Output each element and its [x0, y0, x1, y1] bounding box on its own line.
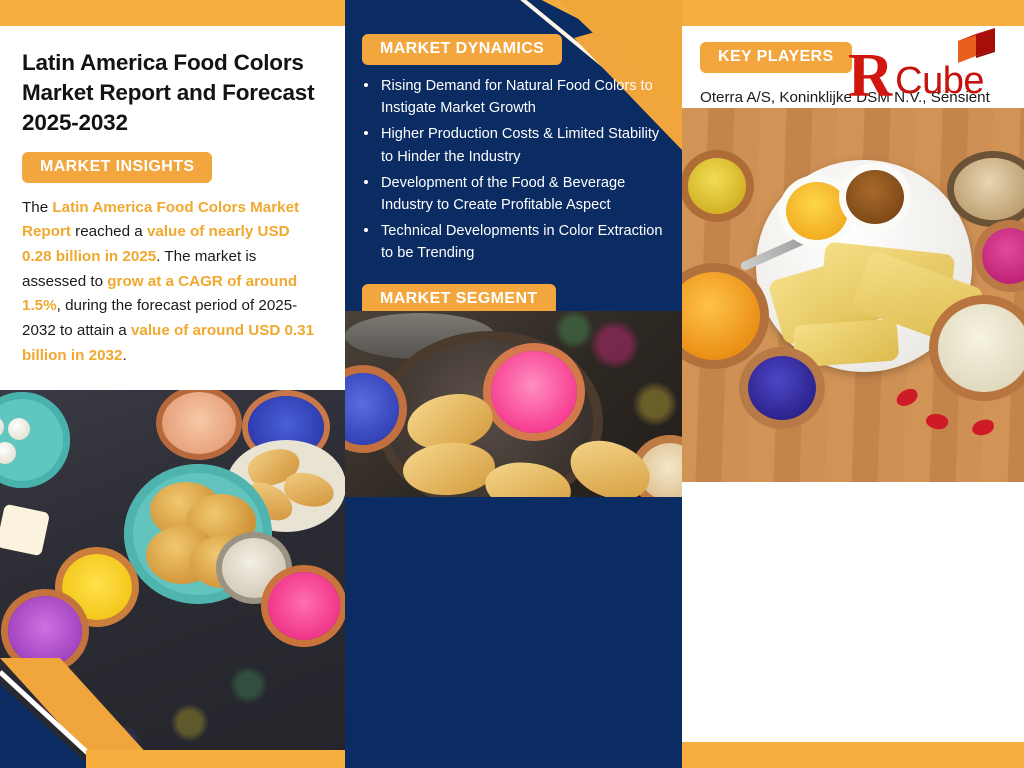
left-panel: Latin America Food Colors Market Report … — [0, 26, 345, 768]
reversed-r-icon: Я — [848, 50, 893, 102]
indigo-powder-bowl — [748, 356, 816, 420]
insights-run-2: reached a — [71, 223, 147, 240]
market-dynamics-list: Rising Demand for Natural Food Colors to… — [379, 75, 664, 264]
list-item: Higher Production Costs & Limited Stabil… — [379, 123, 664, 167]
purple-powder-bowl — [8, 596, 82, 666]
top-accent-strip-left — [0, 0, 345, 26]
peach-powder-bowl — [162, 392, 236, 454]
bottom-accent-strip-right — [682, 742, 1024, 768]
dry-fruits-bowl — [954, 158, 1024, 220]
right-panel: Я Cube — [682, 26, 1024, 742]
list-item: Development of the Food & Beverage Indus… — [379, 172, 664, 216]
middle-food-photo — [345, 311, 682, 497]
right-food-photo — [682, 108, 1024, 482]
pink-powder-bowl — [491, 351, 577, 433]
insights-run-0: The — [22, 199, 52, 216]
paratha-roll — [793, 318, 900, 367]
butter-cube — [0, 504, 50, 557]
left-food-photo — [0, 390, 345, 768]
ghee-bowl — [688, 158, 746, 214]
left-panel-content: Latin America Food Colors Market Report … — [0, 26, 345, 368]
brand-logo[interactable]: Я Cube — [848, 40, 1000, 102]
infographic-page: Latin America Food Colors Market Report … — [0, 0, 1024, 768]
market-insights-text: The Latin America Food Colors Market Rep… — [22, 196, 323, 368]
key-players-badge: KEY PLAYERS — [700, 42, 852, 73]
pink-powder-bowl — [268, 572, 340, 640]
top-accent-strip-right — [682, 0, 1024, 26]
market-insights-badge: MARKET INSIGHTS — [22, 152, 212, 183]
insights-run-8: . — [122, 347, 126, 364]
list-item: Technical Developments in Color Extracti… — [379, 220, 664, 264]
kheer-bowl — [938, 304, 1024, 392]
yellow-sauce-bowl — [786, 182, 848, 240]
brown-curry-bowl — [846, 170, 904, 224]
white-sweet — [8, 418, 30, 440]
page-title: Latin America Food Colors Market Report … — [22, 48, 323, 138]
list-item: Rising Demand for Natural Food Colors to… — [379, 75, 664, 119]
middle-panel: MARKET DYNAMICS Rising Demand for Natura… — [345, 0, 682, 768]
cube-icon — [954, 26, 1000, 76]
